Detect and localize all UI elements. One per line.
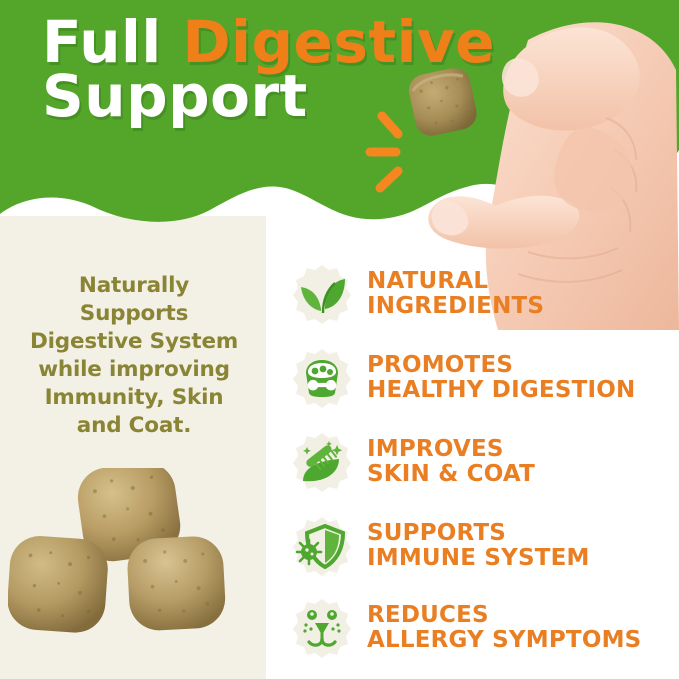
dog-bowl-icon bbox=[291, 347, 353, 409]
leaves-icon bbox=[291, 263, 353, 325]
product-infographic: Full Digestive Support bbox=[0, 0, 679, 679]
feature-item-reduces-allergy-symptoms[interactable]: REDUCES ALLERGY SYMPTOMS bbox=[291, 588, 679, 668]
feature-item-promotes-healthy-digestion[interactable]: PROMOTES HEALTHY DIGESTION bbox=[291, 336, 679, 420]
feature-label: NATURAL INGREDIENTS bbox=[367, 269, 544, 320]
treats-pile-image bbox=[8, 468, 260, 673]
feature-item-natural-ingredients[interactable]: NATURAL INGREDIENTS bbox=[291, 252, 679, 336]
shield-virus-icon bbox=[291, 515, 353, 577]
feature-label: IMPROVES SKIN & COAT bbox=[367, 437, 535, 488]
feature-label: REDUCES ALLERGY SYMPTOMS bbox=[367, 603, 641, 654]
feature-label: SUPPORTS IMMUNE SYSTEM bbox=[367, 521, 590, 572]
brush-leaf-icon bbox=[291, 431, 353, 493]
feature-item-supports-immune-system[interactable]: SUPPORTS IMMUNE SYSTEM bbox=[291, 504, 679, 588]
dog-face-icon bbox=[291, 597, 353, 659]
feature-item-improves-skin-coat[interactable]: IMPROVES SKIN & COAT bbox=[291, 420, 679, 504]
left-body-copy: Naturally Supports Digestive System whil… bbox=[8, 272, 260, 440]
feature-list: NATURAL INGREDIENTS PROMOTES HEALTHY DIG… bbox=[291, 252, 679, 668]
feature-label: PROMOTES HEALTHY DIGESTION bbox=[367, 353, 635, 404]
